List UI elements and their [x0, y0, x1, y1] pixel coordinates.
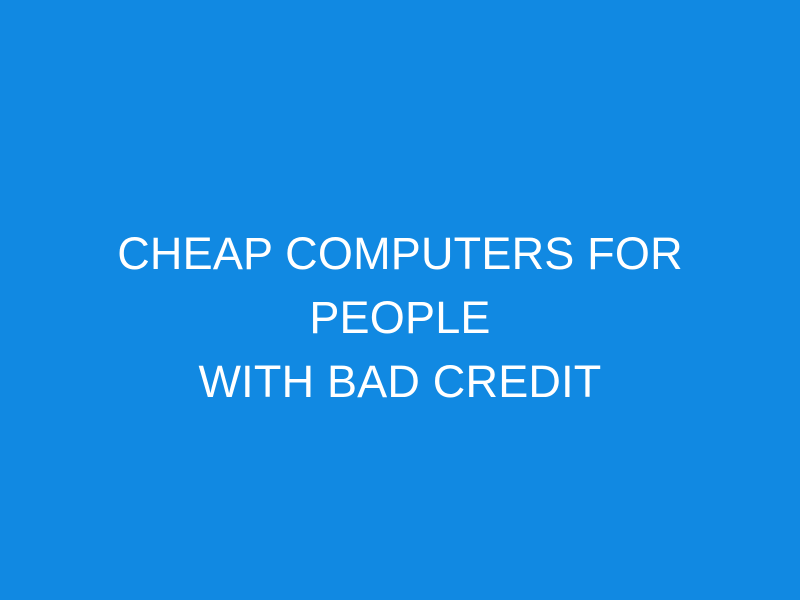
page-title: CHEAP COMPUTERS FOR PEOPLE WITH BAD CRED… — [40, 222, 760, 414]
featured-image-card: CHEAP COMPUTERS FOR PEOPLE WITH BAD CRED… — [0, 0, 800, 600]
title-block: CHEAP COMPUTERS FOR PEOPLE WITH BAD CRED… — [0, 222, 800, 414]
